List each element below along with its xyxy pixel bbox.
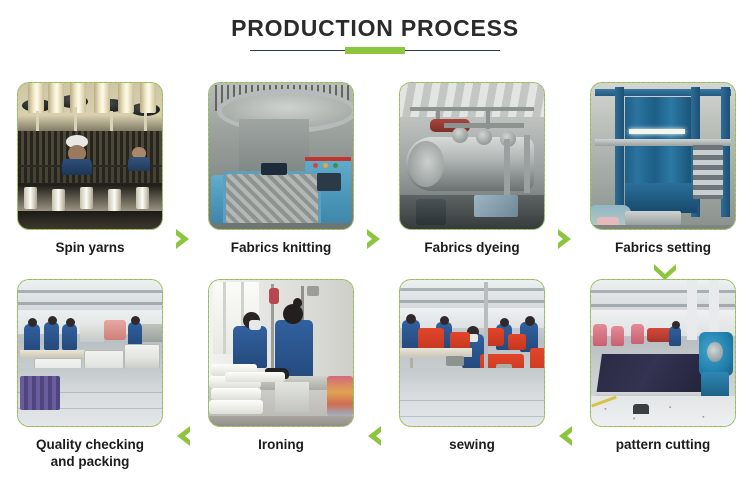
process-step-spin-yarns[interactable]: Spin yarns (17, 82, 163, 256)
step-label-line-1: Quality checking (36, 437, 144, 452)
process-step-pattern-cutting[interactable]: pattern cutting (590, 279, 736, 453)
process-row-2: Quality checking and packing (0, 279, 750, 479)
step-label-fabrics-dyeing: Fabrics dyeing (399, 239, 545, 256)
step-label-fabrics-setting: Fabrics setting (590, 239, 736, 256)
step-label-spin-yarns: Spin yarns (17, 239, 163, 256)
spin-yarns-photo (17, 82, 163, 230)
quality-checking-photo (17, 279, 163, 427)
process-step-fabrics-knitting[interactable]: Fabrics knitting (208, 82, 354, 256)
step-label-pattern-cutting: pattern cutting (590, 436, 736, 453)
step-label-line-2: and packing (51, 454, 130, 469)
process-row-1: Spin yarns Fabrics knitting (0, 82, 750, 282)
fabrics-dyeing-photo (399, 82, 545, 230)
ironing-photo (208, 279, 354, 427)
fabrics-setting-photo (590, 82, 736, 230)
step-label-ironing: Ironing (208, 436, 354, 453)
page-title: PRODUCTION PROCESS (0, 14, 750, 42)
pattern-cutting-photo (590, 279, 736, 427)
chevron-left-icon (170, 423, 196, 449)
step-label-quality-checking: Quality checking and packing (17, 436, 163, 470)
process-step-ironing[interactable]: Ironing (208, 279, 354, 453)
chevron-right-icon (170, 226, 196, 252)
sewing-photo (399, 279, 545, 427)
fabrics-knitting-photo (208, 82, 354, 230)
page-title-block: PRODUCTION PROCESS (0, 14, 750, 55)
process-step-fabrics-dyeing[interactable]: Fabrics dyeing (399, 82, 545, 256)
chevron-left-icon (552, 423, 578, 449)
step-label-fabrics-knitting: Fabrics knitting (208, 239, 354, 256)
chevron-right-icon (552, 226, 578, 252)
process-step-quality-checking[interactable]: Quality checking and packing (17, 279, 163, 470)
process-step-sewing[interactable]: sewing (399, 279, 545, 453)
process-step-fabrics-setting[interactable]: Fabrics setting (590, 82, 736, 256)
chevron-left-icon (361, 423, 387, 449)
chevron-right-icon (361, 226, 387, 252)
step-label-sewing: sewing (399, 436, 545, 453)
chevron-down-icon (651, 262, 679, 280)
title-underline (250, 47, 500, 55)
title-underline-accent (345, 47, 405, 54)
